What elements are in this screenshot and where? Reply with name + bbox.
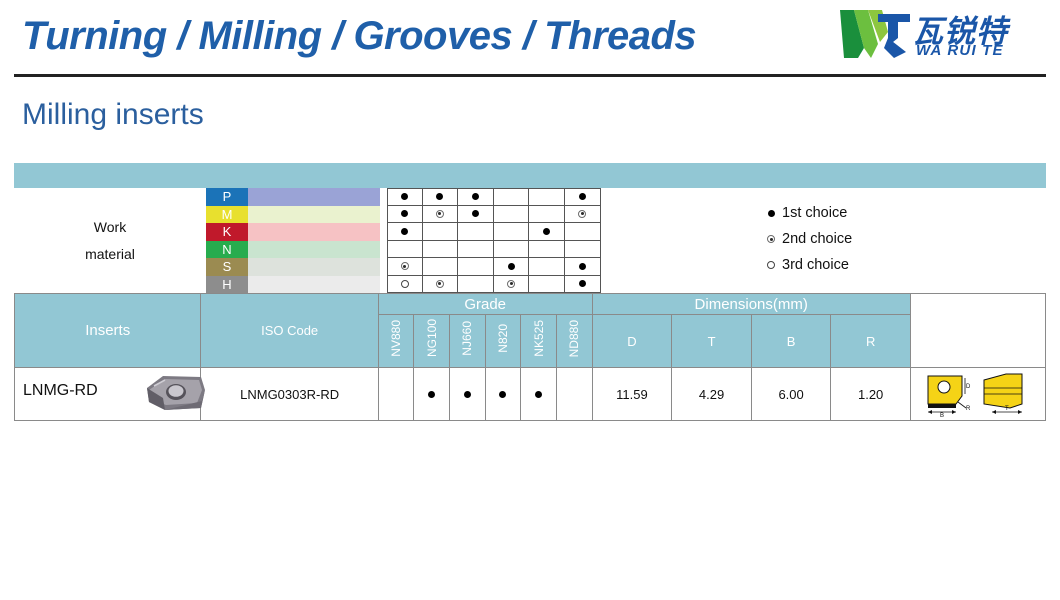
legend-mark [760,235,782,243]
col-header-dim-t: T [672,315,752,368]
cell-iso-code: LNMG0303R-RD [201,368,378,421]
page-title: Milling inserts [22,98,204,132]
col-header-dim-b: B [751,315,831,368]
work-material-row-k: K [206,223,1046,241]
legend-label: 1st choice [782,205,847,221]
first-choice-mark [499,391,506,398]
matrix-cell-p-nd880 [565,188,601,206]
material-code-k: K [206,223,248,241]
legend-item-3rd: 3rd choice [760,252,852,278]
second-choice-mark [767,235,775,243]
col-header-grade-nv880: NV880 [378,315,414,368]
cell-dim-b: 6.00 [751,368,831,421]
cell-insert-name: LNMG-RD [15,368,201,421]
material-code-s: S [206,258,248,276]
second-choice-mark [578,210,586,218]
first-choice-mark [579,263,586,270]
matrix-cell-h-n820 [494,276,530,294]
cell-grade-nj660 [450,368,486,421]
work-material-row-p: P [206,188,1046,206]
cell-grade-ng100 [414,368,450,421]
matrix-cell-h-nj660 [458,276,494,294]
first-choice-mark [401,193,408,200]
page-header: Turning / Milling / Grooves / Threads 瓦锐… [0,0,1060,78]
matrix-cell-n-ng100 [423,241,459,259]
matrix-cell-k-nd880 [565,223,601,241]
matrix-cell-p-nv880 [387,188,423,206]
work-material-row-s: S [206,258,1046,276]
logo-english-text: WA RUI TE [916,42,1004,59]
col-header-grade: Grade [378,294,592,315]
col-header-grade-n820: N820 [485,315,521,368]
cell-grade-n820 [485,368,521,421]
matrix-cell-m-ng100 [423,206,459,224]
work-material-label-line1: Work [94,214,126,241]
first-choice-mark [579,193,586,200]
insert-name-label: LNMG-RD [23,382,98,400]
col-header-dimensions: Dimensions(mm) [592,294,910,315]
legend-label: 3rd choice [782,257,849,273]
second-choice-mark [436,210,444,218]
matrix-cell-m-nd880 [565,206,601,224]
material-color-band [248,241,380,259]
matrix-cell-p-ng100 [423,188,459,206]
matrix-cell-h-ng100 [423,276,459,294]
legend-item-1st: 1st choice [760,200,852,226]
matrix-cell-k-ng100 [423,223,459,241]
matrix-cell-k-nv880 [387,223,423,241]
matrix-cell-k-nk525 [529,223,565,241]
cell-grade-nk525 [521,368,557,421]
header-title: Turning / Milling / Grooves / Threads [22,14,696,59]
section-banner [14,163,1046,188]
first-choice-mark [535,391,542,398]
first-choice-mark [464,391,471,398]
work-material-label-line2: material [85,241,135,268]
matrix-cell-n-nd880 [565,241,601,259]
wa-rui-te-logo-mark [838,8,912,60]
cell-dim-d: 11.59 [592,368,672,421]
first-choice-mark [579,280,586,287]
work-material-row-m: M [206,206,1046,224]
first-choice-mark [768,210,775,217]
first-choice-mark [472,210,479,217]
work-material-matrix: Work material PMKNSH [14,188,1046,293]
cell-grade-nd880 [556,368,592,421]
matrix-cell-n-n820 [494,241,530,259]
matrix-cell-s-nj660 [458,258,494,276]
matrix-cell-n-nj660 [458,241,494,259]
legend-label: 2nd choice [782,231,852,247]
matrix-cell-h-nk525 [529,276,565,294]
col-header-inserts: Inserts [15,294,201,368]
second-choice-mark [401,262,409,270]
choice-legend: 1st choice2nd choice3rd choice [760,200,852,278]
matrix-cell-p-n820 [494,188,530,206]
table-header-group-row: Inserts ISO Code Grade Dimensions(mm) Dr… [15,294,1046,315]
material-color-band [248,223,380,241]
col-header-iso-code: ISO Code [201,294,378,368]
first-choice-mark [428,391,435,398]
matrix-cell-s-n820 [494,258,530,276]
table-row: LNMG-RDLNMG0303R-RD11.594.296.001.20BDRT [15,368,1046,421]
matrix-cell-m-n820 [494,206,530,224]
material-color-band [248,258,380,276]
material-code-p: P [206,188,248,206]
material-code-n: N [206,241,248,259]
first-choice-mark [401,228,408,235]
svg-text:T: T [1005,406,1009,412]
legend-item-2nd: 2nd choice [760,226,852,252]
col-header-dim-r: R [831,315,911,368]
milling-insert-photo [143,370,209,416]
work-material-row-h: H [206,276,1046,294]
first-choice-mark [401,210,408,217]
material-color-band [248,188,380,206]
col-header-grade-nj660: NJ660 [450,315,486,368]
svg-text:B: B [940,413,944,418]
third-choice-mark [401,280,409,288]
first-choice-mark [508,263,515,270]
legend-mark [760,210,782,217]
second-choice-mark [507,280,515,288]
company-logo: 瓦锐特 WA RUI TE [838,6,1048,68]
col-header-drawing: Drawing [910,294,1045,368]
first-choice-mark [436,193,443,200]
cell-dim-t: 4.29 [672,368,752,421]
matrix-cell-p-nk525 [529,188,565,206]
col-header-dim-d: D [592,315,672,368]
matrix-cell-h-nv880 [387,276,423,294]
matrix-cell-m-nv880 [387,206,423,224]
matrix-cell-p-nj660 [458,188,494,206]
matrix-cell-s-nd880 [565,258,601,276]
first-choice-mark [543,228,550,235]
matrix-cell-h-nd880 [565,276,601,294]
work-material-label: Work material [14,188,206,293]
matrix-cell-s-ng100 [423,258,459,276]
matrix-cell-m-nk525 [529,206,565,224]
cell-grade-nv880 [378,368,414,421]
col-header-grade-nk525: NK525 [521,315,557,368]
matrix-cell-n-nv880 [387,241,423,259]
work-material-row-n: N [206,241,1046,259]
matrix-cell-s-nv880 [387,258,423,276]
header-divider [14,74,1046,77]
insert-dimension-drawing: BDRT [922,370,1034,418]
matrix-cell-s-nk525 [529,258,565,276]
col-header-grade-nd880: ND880 [556,315,592,368]
matrix-cell-k-nj660 [458,223,494,241]
matrix-cell-k-n820 [494,223,530,241]
insert-spec-table: Inserts ISO Code Grade Dimensions(mm) Dr… [14,293,1046,421]
material-color-band [248,276,380,294]
svg-text:R: R [966,406,971,412]
col-header-grade-ng100: NG100 [414,315,450,368]
cell-drawing: BDRT [910,368,1045,421]
material-color-band [248,206,380,224]
legend-mark [760,261,782,269]
third-choice-mark [767,261,775,269]
first-choice-mark [472,193,479,200]
second-choice-mark [436,280,444,288]
material-code-m: M [206,206,248,224]
cell-dim-r: 1.20 [831,368,911,421]
material-code-h: H [206,276,248,294]
svg-text:D: D [966,384,971,390]
matrix-cell-n-nk525 [529,241,565,259]
matrix-cell-m-nj660 [458,206,494,224]
